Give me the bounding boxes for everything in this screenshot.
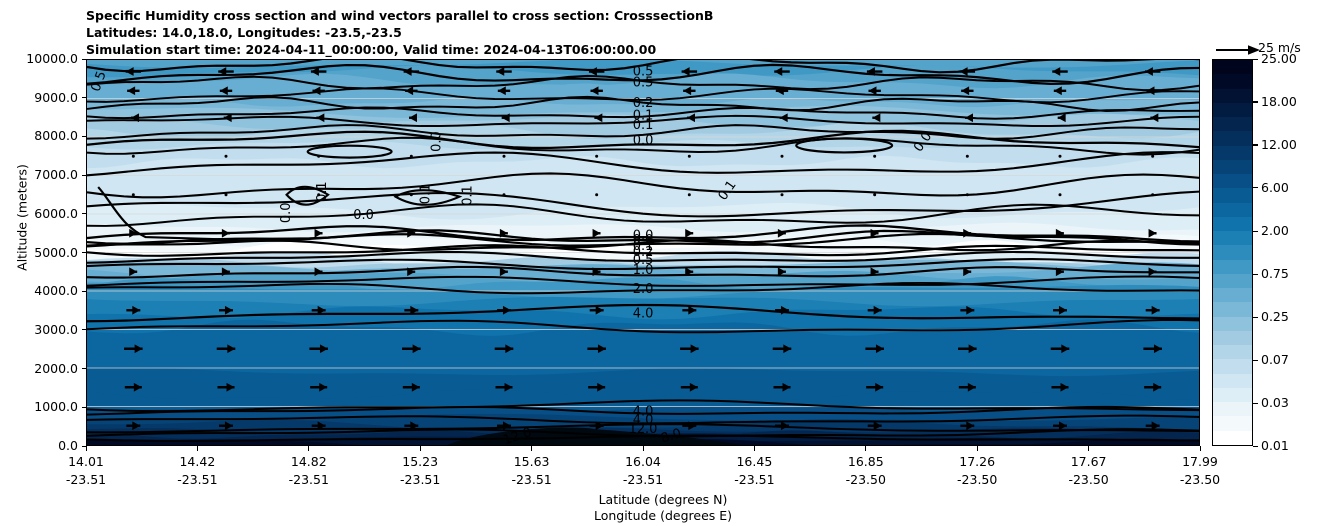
- y-tick-mark: [82, 97, 87, 98]
- colorbar-segment: [1213, 116, 1252, 131]
- page-title-line-3: Simulation start time: 2024-04-11_00:00:…: [86, 42, 656, 57]
- colorbar-segment: [1213, 88, 1252, 103]
- colorbar-segment: [1213, 188, 1252, 203]
- x-tick-mark: [754, 446, 755, 451]
- colorbar-segment: [1213, 216, 1252, 231]
- colorbar-segment: [1213, 273, 1252, 288]
- colorbar-tick-mark: [1253, 231, 1258, 232]
- colorbar-segment: [1213, 288, 1252, 303]
- x-tick-mark: [977, 446, 978, 451]
- colorbar-segment: [1213, 430, 1252, 445]
- colorbar-segment: [1213, 316, 1252, 331]
- colorbar-segment: [1213, 373, 1252, 388]
- colorbar-segment: [1213, 402, 1252, 417]
- x-tick-label-longitude: -23.50: [1044, 472, 1134, 487]
- x-tick-label-latitude: 14.42: [152, 454, 242, 469]
- contour-label: 0.0: [633, 134, 654, 149]
- colorbar-segment: [1213, 302, 1252, 317]
- y-tick-mark: [82, 368, 87, 369]
- x-tick-mark: [1088, 446, 1089, 451]
- colorbar-tick-mark: [1253, 403, 1258, 404]
- y-tick-label: 1000.0: [8, 399, 78, 414]
- x-tick-label-latitude: 14.82: [264, 454, 354, 469]
- colorbar-tick-label: 12.00: [1261, 137, 1297, 152]
- colorbar-segment: [1213, 359, 1252, 374]
- contour-label: 0.0: [430, 131, 445, 152]
- colorbar[interactable]: [1212, 59, 1253, 446]
- x-tick-label-longitude: -23.51: [152, 472, 242, 487]
- colorbar-tick-label: 0.03: [1261, 395, 1289, 410]
- colorbar-segment: [1213, 131, 1252, 146]
- contour-label: 1.0: [633, 263, 654, 278]
- contour-label: 4.0: [633, 306, 654, 321]
- colorbar-tick-mark: [1253, 59, 1258, 60]
- colorbar-tick-mark: [1253, 187, 1258, 188]
- contour-label: 0.0: [279, 203, 294, 224]
- colorbar-segment: [1213, 159, 1252, 174]
- colorbar-tick-label: 6.00: [1261, 180, 1289, 195]
- colorbar-tick-mark: [1253, 144, 1258, 145]
- contour-label: 2.0: [633, 282, 654, 297]
- colorbar-tick-label: 0.01: [1261, 438, 1289, 453]
- y-tick-mark: [82, 136, 87, 137]
- y-tick-label: 0.0: [8, 438, 78, 453]
- x-axis-label-longitude: Longitude (degrees E): [463, 508, 863, 523]
- x-tick-mark: [86, 446, 87, 451]
- contour-label: 0.1: [460, 185, 475, 206]
- x-tick-label-latitude: 15.63: [487, 454, 577, 469]
- colorbar-segment: [1213, 102, 1252, 117]
- colorbar-segment: [1213, 231, 1252, 246]
- x-tick-label-latitude: 16.85: [821, 454, 911, 469]
- y-tick-mark: [82, 329, 87, 330]
- colorbar-segment: [1213, 259, 1252, 274]
- cross-section-canvas: 0.50.50.50.20.10.10.00.00.00.10.10.10.10…: [87, 60, 1199, 445]
- colorbar-tick-label: 0.75: [1261, 266, 1289, 281]
- x-tick-mark: [865, 446, 866, 451]
- colorbar-tick-mark: [1253, 101, 1258, 102]
- contour-label: 12.0: [629, 422, 658, 437]
- x-tick-label-latitude: 17.99: [1155, 454, 1245, 469]
- x-tick-label-longitude: -23.51: [709, 472, 799, 487]
- x-tick-mark: [531, 446, 532, 451]
- colorbar-segment: [1213, 145, 1252, 160]
- colorbar-segment: [1213, 245, 1252, 260]
- y-tick-mark: [82, 213, 87, 214]
- colorbar-tick-label: 25.00: [1261, 51, 1297, 66]
- y-tick-mark: [82, 407, 87, 408]
- x-tick-mark: [643, 446, 644, 451]
- x-tick-label-latitude: 15.23: [375, 454, 465, 469]
- colorbar-tick-label: 18.00: [1261, 94, 1297, 109]
- cross-section-plot[interactable]: 0.50.50.50.20.10.10.00.00.00.10.10.10.10…: [86, 59, 1200, 446]
- contour-label: 0.1: [633, 118, 654, 133]
- x-tick-label-longitude: -23.50: [821, 472, 911, 487]
- y-tick-mark: [82, 252, 87, 253]
- colorbar-segment: [1213, 416, 1252, 431]
- colorbar-tick-mark: [1253, 360, 1258, 361]
- x-tick-label-latitude: 16.45: [709, 454, 799, 469]
- contour-label: 0.1: [315, 181, 330, 202]
- y-tick-mark: [82, 59, 87, 60]
- colorbar-tick-mark: [1253, 317, 1258, 318]
- colorbar-segment: [1213, 345, 1252, 360]
- colorbar-segment: [1213, 59, 1252, 74]
- x-tick-mark: [197, 446, 198, 451]
- x-tick-label-latitude: 17.67: [1044, 454, 1134, 469]
- x-tick-label-longitude: -23.51: [487, 472, 577, 487]
- colorbar-tick-mark: [1253, 446, 1258, 447]
- x-tick-mark: [420, 446, 421, 451]
- page-title-line-2: Latitudes: 14.0,18.0, Longitudes: -23.5,…: [86, 25, 402, 40]
- contour-label: 0.1: [419, 184, 434, 205]
- y-tick-mark: [82, 175, 87, 176]
- colorbar-segment: [1213, 387, 1252, 402]
- x-tick-label-longitude: -23.51: [375, 472, 465, 487]
- colorbar-tick-label: 0.25: [1261, 309, 1289, 324]
- x-tick-label-latitude: 16.04: [598, 454, 688, 469]
- x-tick-label-latitude: 17.26: [932, 454, 1022, 469]
- x-tick-label-longitude: -23.51: [264, 472, 354, 487]
- x-tick-label-longitude: -23.50: [1155, 472, 1245, 487]
- x-tick-label-longitude: -23.50: [932, 472, 1022, 487]
- y-tick-mark: [82, 291, 87, 292]
- x-tick-label-latitude: 14.01: [41, 454, 131, 469]
- contour-label: 0.0: [353, 208, 374, 223]
- x-tick-mark: [1200, 446, 1201, 451]
- x-axis-label-latitude: Latitude (degrees N): [463, 492, 863, 507]
- x-tick-mark: [308, 446, 309, 451]
- x-tick-label-longitude: -23.51: [598, 472, 688, 487]
- colorbar-tick-label: 0.07: [1261, 352, 1289, 367]
- colorbar-segment: [1213, 202, 1252, 217]
- page-title-line-1: Specific Humidity cross section and wind…: [86, 8, 713, 23]
- y-axis-label: Altitude (meters): [15, 38, 30, 398]
- colorbar-segment: [1213, 74, 1252, 89]
- colorbar-tick-label: 2.00: [1261, 223, 1289, 238]
- colorbar-segment: [1213, 174, 1252, 189]
- colorbar-tick-mark: [1253, 274, 1258, 275]
- contour-label: 0.5: [633, 75, 654, 90]
- colorbar-segment: [1213, 330, 1252, 345]
- x-tick-label-longitude: -23.51: [41, 472, 131, 487]
